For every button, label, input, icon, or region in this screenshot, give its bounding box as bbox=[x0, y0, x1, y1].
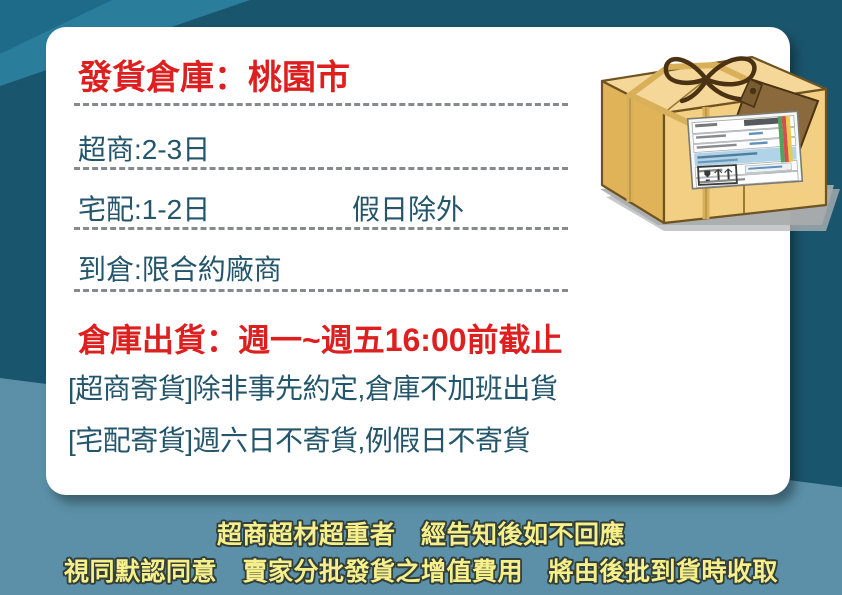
divider-4 bbox=[74, 289, 568, 292]
divider-2 bbox=[74, 167, 568, 170]
info-card: 發貨倉庫：桃園市 超商:2-3日 宅配:1-2日 假日除外 到倉:限合約廠商 倉… bbox=[46, 27, 790, 495]
note-convenience-store: [超商寄貨]除非事先約定,倉庫不加班出貨 bbox=[68, 367, 557, 407]
shipping-heading: 倉庫出貨：週一~週五16:00前截止 bbox=[78, 315, 563, 361]
banner-line-1: 超商超材超重者 經告知後如不回應 bbox=[0, 515, 842, 551]
divider-3 bbox=[74, 227, 568, 230]
poster-canvas: 發貨倉庫：桃園市 超商:2-3日 宅配:1-2日 假日除外 到倉:限合約廠商 倉… bbox=[0, 0, 842, 595]
row-label-home-delivery: 宅配:1-2日 bbox=[78, 188, 210, 228]
row-note-holiday-excluded: 假日除外 bbox=[352, 188, 464, 228]
page-title: 發貨倉庫：桃園市 bbox=[78, 50, 350, 99]
divider-1 bbox=[74, 103, 568, 106]
note-home-delivery: [宅配寄貨]週六日不寄貨,例假日不寄貨 bbox=[68, 419, 530, 459]
row-label-warehouse-arrival: 到倉:限合約廠商 bbox=[78, 248, 282, 288]
row-label-convenience-store: 超商:2-3日 bbox=[78, 128, 210, 168]
banner-line-2: 視同默認同意 賣家分批發貨之增值費用 將由後批到貨時收取 bbox=[0, 552, 842, 588]
shipping-label bbox=[688, 111, 803, 189]
parcel-illustration bbox=[594, 39, 842, 254]
